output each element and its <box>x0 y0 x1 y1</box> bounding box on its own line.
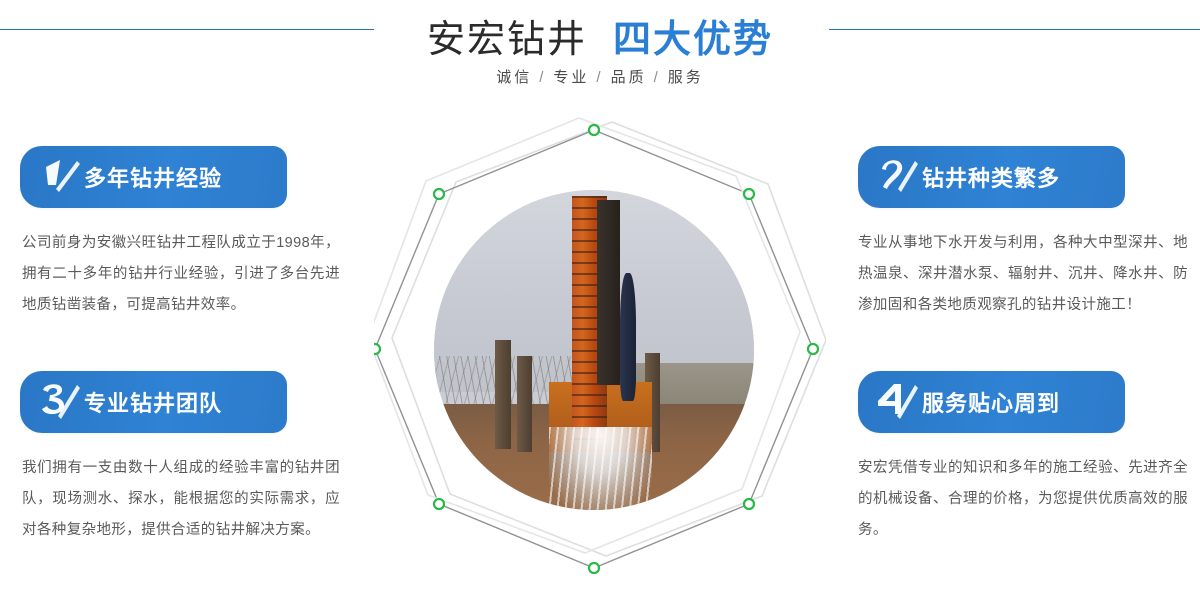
subtitle-item-0: 诚信 <box>496 69 532 86</box>
photo-mast-core <box>597 200 619 386</box>
drilling-rig-photo <box>434 190 754 510</box>
photo-pipe-2 <box>517 356 531 452</box>
photo-hydraulic-hose <box>620 273 636 401</box>
feature-body-4: 安宏凭借专业的知识和多年的施工经验、先进齐全的机械设备、合理的价格，为您提供优质… <box>858 453 1188 546</box>
octagon-vertex-e <box>808 344 818 354</box>
octagon-vertex-n <box>589 125 599 135</box>
feature-title-3: 专业钻井团队 <box>84 386 222 418</box>
feature-block-3: 专业钻井团队 我们拥有一支由数十人组成的经验丰富的钻井团队，现场测水、探水，能根… <box>20 371 360 546</box>
number-three-icon <box>36 380 82 424</box>
feature-badge-2[interactable]: 钻井种类繁多 <box>858 146 1125 208</box>
subtitle-keywords: 诚信/专业/品质/服务 <box>0 66 1200 87</box>
feature-title-1: 多年钻井经验 <box>84 161 222 193</box>
subtitle-separator-0: / <box>539 69 546 86</box>
photo-water-gush <box>549 427 651 510</box>
feature-badge-3[interactable]: 专业钻井团队 <box>20 371 287 433</box>
feature-badge-4[interactable]: 服务贴心周到 <box>858 371 1125 433</box>
number-one-icon <box>36 155 82 199</box>
feature-title-2: 钻井种类繁多 <box>922 161 1060 193</box>
page-title: 安宏钻井四大优势 <box>0 8 1200 63</box>
photo-water-streaks <box>549 427 651 510</box>
octagon-vertex-w <box>374 344 380 354</box>
advantages-page: 安宏钻井四大优势 诚信/专业/品质/服务 <box>0 0 1200 600</box>
title-company-name: 安宏钻井 <box>427 19 587 61</box>
subtitle-item-1: 专业 <box>553 69 589 86</box>
feature-block-4: 服务贴心周到 安宏凭借专业的知识和多年的施工经验、先进齐全的机械设备、合理的价格… <box>858 371 1200 546</box>
page-header: 安宏钻井四大优势 诚信/专业/品质/服务 <box>0 0 1200 112</box>
octagon-vertex-s <box>589 563 599 573</box>
subtitle-item-3: 服务 <box>668 69 704 86</box>
feature-title-4: 服务贴心周到 <box>922 386 1060 418</box>
subtitle-separator-2: / <box>654 69 661 86</box>
subtitle-item-2: 品质 <box>611 69 647 86</box>
title-highlight: 四大优势 <box>613 19 773 61</box>
number-four-icon <box>874 380 920 424</box>
number-two-icon <box>874 155 920 199</box>
feature-body-1: 公司前身为安徽兴旺钻井工程队成立于1998年，拥有二十多年的钻井行业经验，引进了… <box>22 228 340 321</box>
feature-block-1: 多年钻井经验 公司前身为安徽兴旺钻井工程队成立于1998年，拥有二十多年的钻井行… <box>20 146 360 321</box>
photo-scene <box>434 190 754 510</box>
feature-body-3: 我们拥有一支由数十人组成的经验丰富的钻井团队，现场测水、探水，能根据您的实际需求… <box>22 453 340 546</box>
photo-pipe-1 <box>495 340 511 449</box>
feature-badge-1[interactable]: 多年钻井经验 <box>20 146 287 208</box>
subtitle-separator-1: / <box>596 69 603 86</box>
feature-body-2: 专业从事地下水开发与利用，各种大中型深井、地热温泉、深井潜水泵、辐射井、沉井、降… <box>858 228 1188 321</box>
center-artwork <box>374 112 826 582</box>
feature-block-2: 钻井种类繁多 专业从事地下水开发与利用，各种大中型深井、地热温泉、深井潜水泵、辐… <box>858 146 1200 321</box>
